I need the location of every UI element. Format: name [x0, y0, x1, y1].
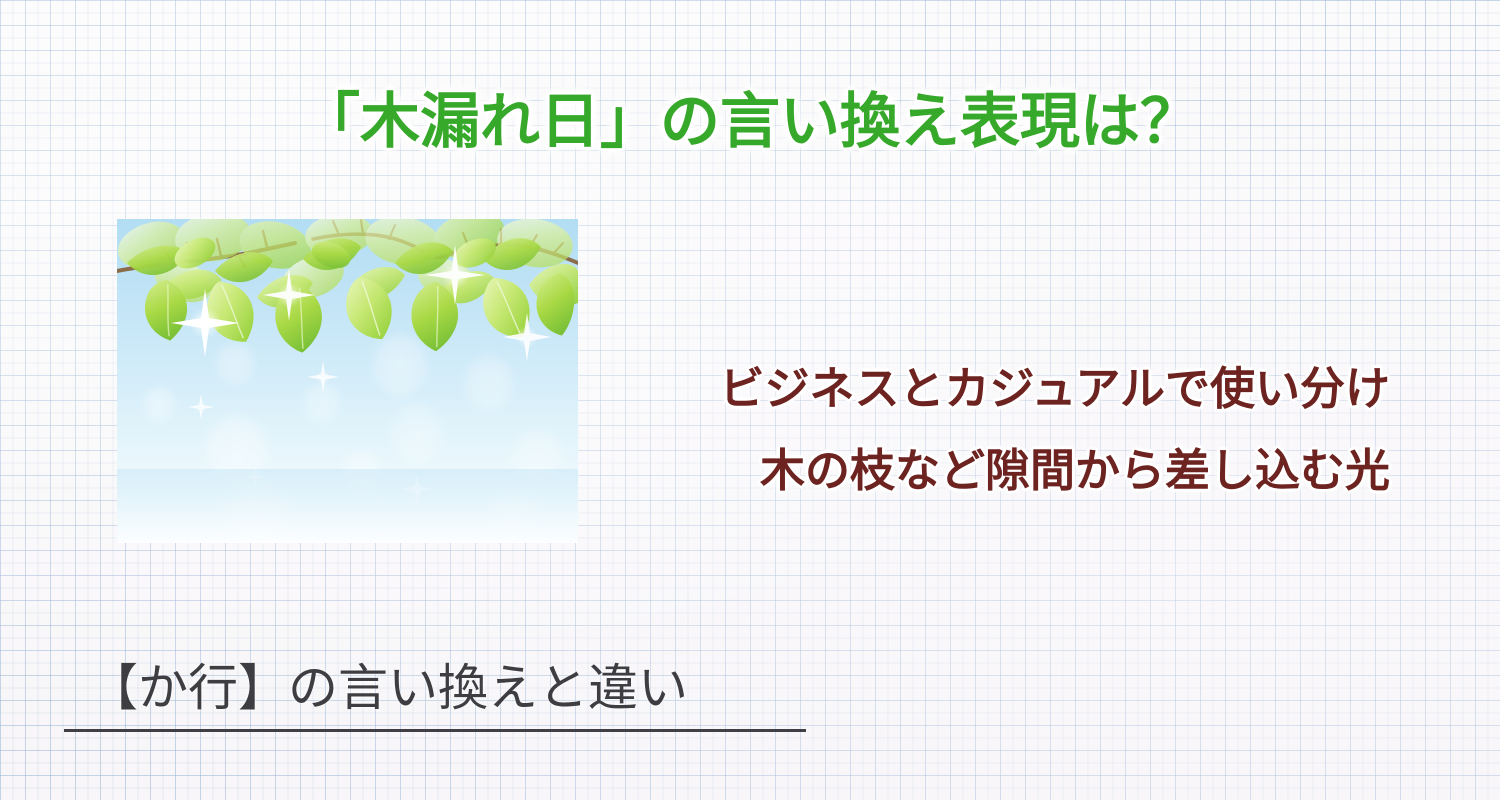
footer-caption: 【か行】の言い換えと違い — [88, 657, 688, 719]
leaves-sky-illustration — [117, 219, 578, 543]
illustration-svg — [117, 219, 578, 543]
page-root: 「木漏れ日」の言い換え表現は？ — [0, 0, 1500, 800]
page-title: 「木漏れ日」の言い換え表現は？ — [0, 87, 1500, 157]
footer-underline-rule — [64, 729, 806, 732]
subtitle-line-2: 木の枝など隙間から差し込む光 — [719, 430, 1390, 512]
subtitle-line-1: ビジネスとカジュアルで使い分け — [719, 348, 1390, 430]
subtitle-text-block: ビジネスとカジュアルで使い分け 木の枝など隙間から差し込む光 — [719, 348, 1390, 512]
